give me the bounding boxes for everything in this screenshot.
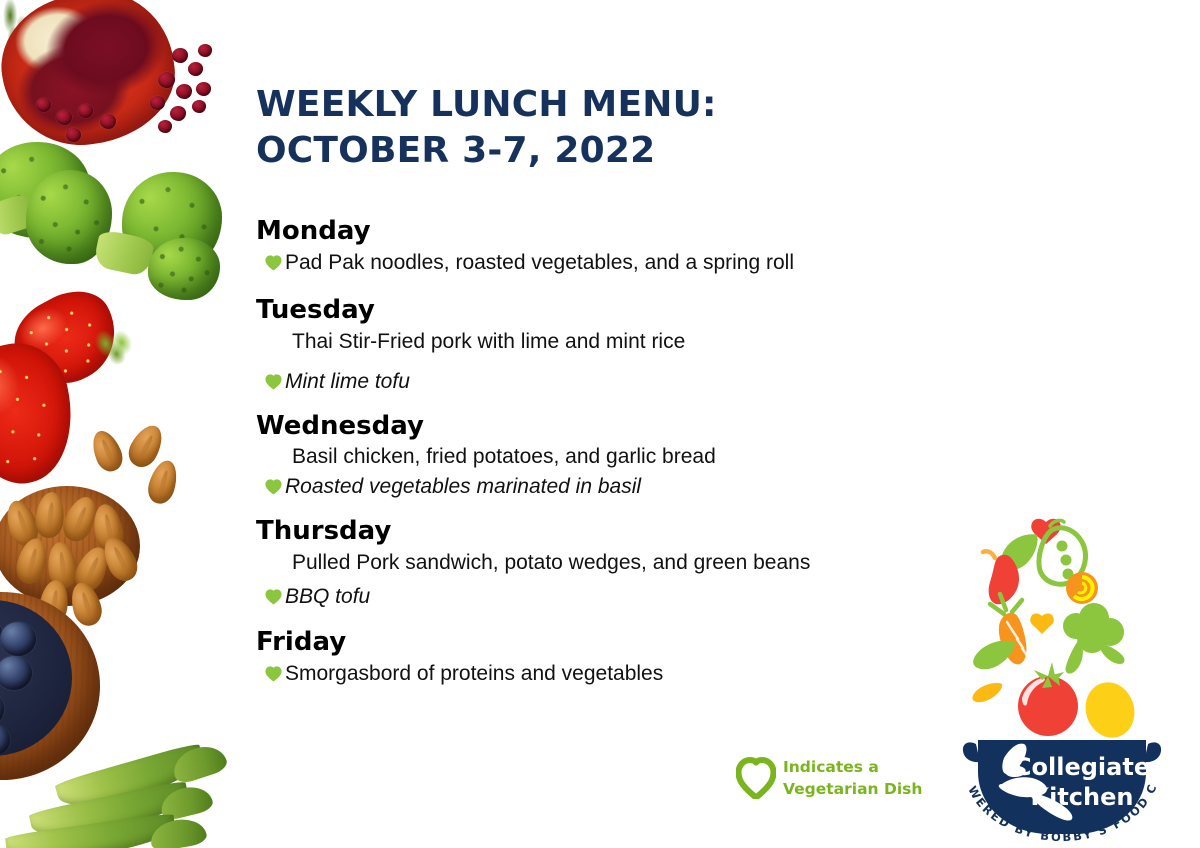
broccoli-stalk xyxy=(0,192,38,238)
strawberry-calyx xyxy=(87,317,146,371)
broccoli-floret xyxy=(0,142,90,238)
pomegranate-seed xyxy=(172,48,188,63)
almond xyxy=(37,578,71,625)
broccoli-stalk xyxy=(93,229,156,278)
pomegranate-seed xyxy=(196,82,211,96)
blueberry xyxy=(0,724,10,756)
broccoli-floret xyxy=(26,170,112,264)
almond xyxy=(46,541,79,590)
asparagus-spear xyxy=(28,780,191,845)
dish-text: Pad Pak noodles, roasted vegetables, and… xyxy=(285,248,794,278)
dish-text: Pulled Pork sandwich, potato wedges, and… xyxy=(292,548,810,578)
dish-row: Pad Pak noodles, roasted vegetables, and… xyxy=(264,248,956,278)
day-heading: Wednesday xyxy=(256,411,956,442)
day-block-monday: Monday Pad Pak noodles, roasted vegetabl… xyxy=(256,216,956,277)
pomegranate-seed xyxy=(150,96,165,110)
vegetarian-heart-icon xyxy=(736,757,776,799)
almond xyxy=(123,420,168,472)
pomegranate-leaves-icon xyxy=(0,0,34,52)
pomegranate-seed xyxy=(188,62,203,76)
blueberry xyxy=(0,616,2,652)
vegetarian-heart-icon xyxy=(264,588,283,605)
almond xyxy=(90,502,126,552)
legend-label: Indicates a Vegetarian Dish xyxy=(783,756,922,800)
almond xyxy=(58,492,101,545)
pomegranate-seed xyxy=(100,114,116,129)
pomegranate-seed xyxy=(198,44,212,57)
almond xyxy=(66,579,105,629)
pomegranate-seed xyxy=(78,104,93,118)
vegetarian-heart-icon xyxy=(264,254,283,271)
almond xyxy=(97,532,142,586)
wooden-bowl xyxy=(0,592,100,780)
menu-list: Monday Pad Pak noodles, roasted vegetabl… xyxy=(256,216,956,691)
dish-row: Mint lime tofu xyxy=(264,367,956,397)
dish-row: Basil chicken, fried potatoes, and garli… xyxy=(292,442,956,472)
almond xyxy=(34,491,67,540)
vegetarian-heart-icon xyxy=(264,373,283,390)
dish-row: Pulled Pork sandwich, potato wedges, and… xyxy=(292,548,956,578)
day-heading: Tuesday xyxy=(256,295,956,326)
pomegranate-seed xyxy=(192,100,206,113)
almond xyxy=(2,497,43,549)
broccoli-floret xyxy=(122,172,222,270)
asparagus-tip xyxy=(148,815,208,848)
pomegranate-seed xyxy=(158,120,172,133)
strawberry xyxy=(0,334,85,494)
dish-text: Smorgasbord of proteins and vegetables xyxy=(285,659,663,689)
dish-text: Thai Stir-Fried pork with lime and mint … xyxy=(292,327,685,357)
dish-row: Roasted vegetables marinated in basil xyxy=(264,472,956,502)
menu-flyer: WEEKLY LUNCH MENU: OCTOBER 3-7, 2022 Mon… xyxy=(0,0,1200,848)
food-border-strip xyxy=(0,0,240,848)
pomegranate-seed xyxy=(56,110,72,125)
pomegranate-seed xyxy=(36,98,51,112)
vegetarian-heart-icon xyxy=(264,665,283,682)
asparagus-spear xyxy=(54,742,208,816)
broccoli-floret xyxy=(148,238,220,300)
almond xyxy=(70,542,114,595)
day-heading: Monday xyxy=(256,216,956,247)
dish-text: Mint lime tofu xyxy=(285,367,410,397)
vegetarian-legend: Indicates a Vegetarian Dish xyxy=(736,756,922,800)
dish-row: BBQ tofu xyxy=(264,582,956,612)
day-block-friday: Friday Smorgasbord of proteins and veget… xyxy=(256,627,956,688)
dish-text: Roasted vegetables marinated in basil xyxy=(285,472,641,502)
dish-text: Basil chicken, fried potatoes, and garli… xyxy=(292,442,716,472)
blueberry xyxy=(0,690,4,728)
day-heading: Thursday xyxy=(256,516,956,547)
almond xyxy=(13,535,51,586)
pomegranate-seed xyxy=(158,72,175,88)
almond xyxy=(144,457,181,506)
asparagus-tip xyxy=(169,740,230,785)
almond xyxy=(87,427,127,476)
day-block-tuesday: Tuesday Thai Stir-Fried pork with lime a… xyxy=(256,295,956,396)
day-block-wednesday: Wednesday Basil chicken, fried potatoes,… xyxy=(256,411,956,502)
pomegranate-seed xyxy=(66,128,81,142)
blueberry xyxy=(0,622,36,656)
strawberry xyxy=(2,277,132,401)
asparagus-spear xyxy=(5,812,178,848)
logo-name-line2: Kitchen xyxy=(1031,783,1134,811)
almond-bowl xyxy=(0,486,140,606)
blueberry xyxy=(0,656,32,690)
vegetarian-heart-icon xyxy=(264,478,283,495)
dish-row: Smorgasbord of proteins and vegetables xyxy=(264,659,956,689)
logo-name-line1: Collegiate xyxy=(1014,753,1150,781)
page-title: WEEKLY LUNCH MENU: OCTOBER 3-7, 2022 xyxy=(256,82,717,174)
pomegranate-body xyxy=(0,0,184,155)
pomegranate-seed xyxy=(176,84,192,99)
bowl-inner xyxy=(0,600,72,756)
dish-row: Thai Stir-Fried pork with lime and mint … xyxy=(292,327,956,357)
day-block-thursday: Thursday Pulled Pork sandwich, potato we… xyxy=(256,516,956,611)
dish-text: BBQ tofu xyxy=(285,582,370,612)
day-heading: Friday xyxy=(256,627,956,658)
produce-cluster xyxy=(972,519,1141,744)
pomegranate-seed xyxy=(170,106,186,121)
collegiate-kitchen-logo: Collegiate Kitchen POWERED BY BOBBY'S FO… xyxy=(962,492,1162,842)
asparagus-tip xyxy=(157,782,214,822)
